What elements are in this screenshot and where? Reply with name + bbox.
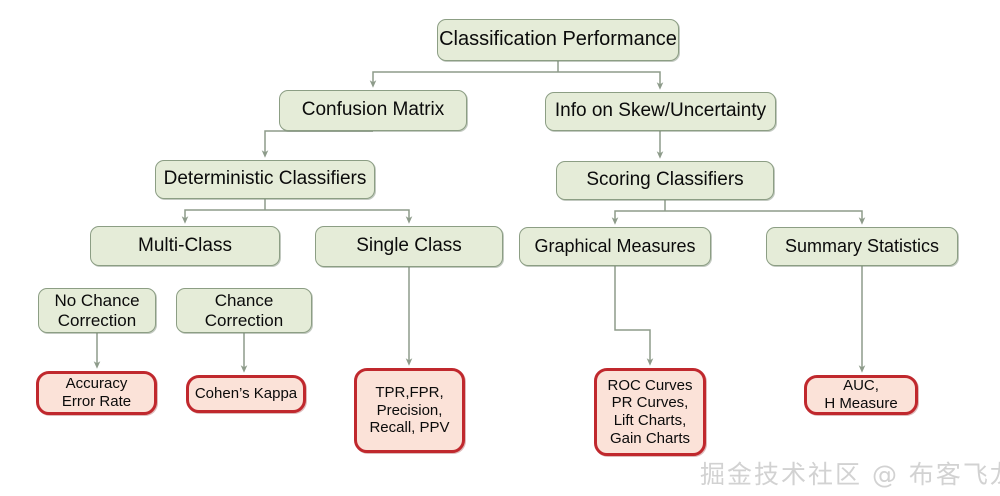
node-deterministic-classifiers[interactable]: Deterministic Classifiers — [155, 160, 375, 199]
node-no-chance-correction[interactable]: No Chance Correction — [38, 288, 156, 333]
edge-deterministic-to-multiclass — [185, 210, 265, 220]
node-confusion-matrix[interactable]: Confusion Matrix — [279, 90, 467, 131]
node-single-class[interactable]: Single Class — [315, 226, 503, 267]
node-multi-class[interactable]: Multi-Class — [90, 226, 280, 266]
node-accuracy-error-rate[interactable]: Accuracy Error Rate — [36, 371, 157, 415]
node-roc-pr-lift-gain-charts[interactable]: ROC Curves PR Curves, Lift Charts, Gain … — [594, 368, 706, 456]
node-cohens-kappa[interactable]: Cohen’s Kappa — [186, 375, 306, 413]
node-info-on-skew-uncertainty[interactable]: Info on Skew/Uncertainty — [545, 92, 776, 131]
node-classification-performance[interactable]: Classification Performance — [437, 19, 679, 61]
node-tpr-fpr-precision-recall-ppv[interactable]: TPR,FPR, Precision, Recall, PPV — [354, 368, 465, 453]
watermark-text: 掘金技术社区 @ 布客飞龙 — [700, 455, 1000, 491]
diagram-canvas: Classification Performance Confusion Mat… — [0, 0, 1000, 496]
edge-confusion-to-deterministic — [265, 131, 373, 154]
edge-deterministic-to-singleclass — [265, 210, 409, 220]
node-chance-correction[interactable]: Chance Correction — [176, 288, 312, 333]
edge-root-to-confusion — [373, 72, 558, 84]
node-scoring-classifiers[interactable]: Scoring Classifiers — [556, 161, 774, 200]
edge-root-to-skew — [558, 72, 660, 86]
edge-scoring-to-graphical — [615, 211, 665, 221]
node-summary-statistics[interactable]: Summary Statistics — [766, 227, 958, 266]
node-auc-h-measure[interactable]: AUC, H Measure — [804, 375, 918, 415]
node-graphical-measures[interactable]: Graphical Measures — [519, 227, 711, 266]
edge-scoring-to-summary — [665, 211, 862, 221]
edge-graphical-to-roc — [615, 266, 650, 362]
